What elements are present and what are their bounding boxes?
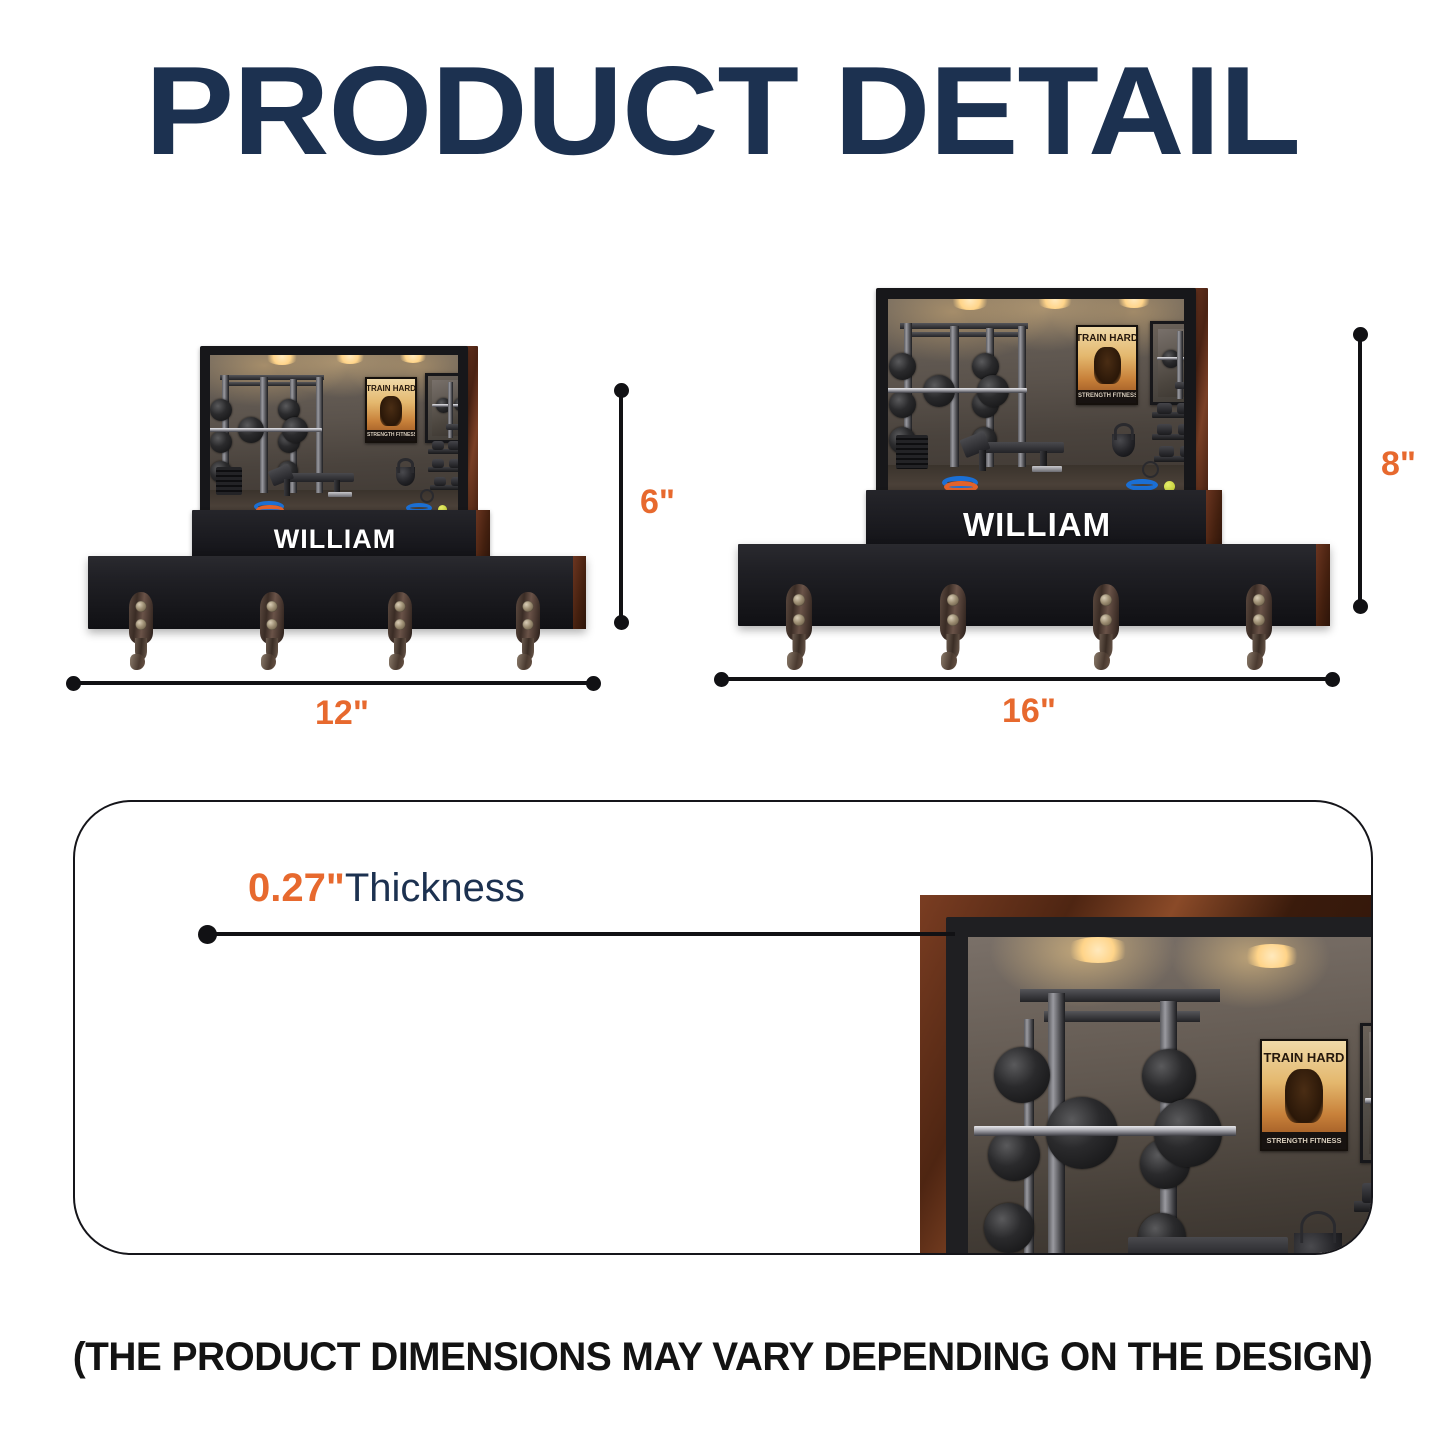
weight-bench bbox=[962, 435, 1064, 473]
poster-title: TRAIN HARD bbox=[1264, 1050, 1345, 1065]
wall-mirror bbox=[1360, 1023, 1373, 1163]
ceiling-light-icon bbox=[334, 355, 366, 364]
dimension-endpoint-dot bbox=[1353, 327, 1368, 342]
height-dimension-line-small bbox=[619, 390, 623, 622]
wall-mirror bbox=[425, 373, 458, 443]
gym-ring bbox=[420, 489, 434, 503]
weight-plate-stack bbox=[216, 467, 242, 495]
gym-ring bbox=[1142, 461, 1159, 478]
leader-line bbox=[215, 932, 955, 936]
poster-title: TRAIN HARD bbox=[1076, 333, 1138, 344]
dimension-endpoint-dot bbox=[1325, 672, 1340, 687]
weight-plate-stack bbox=[896, 435, 928, 469]
wall-mirror bbox=[1150, 321, 1184, 405]
gym-diorama: TRAIN HARD STRENGTH FITNESS bbox=[888, 299, 1184, 513]
width-dimension-label-large: 16" bbox=[1002, 692, 1056, 731]
key-hook bbox=[1093, 584, 1119, 674]
dimension-endpoint-dot bbox=[66, 676, 81, 691]
key-hook bbox=[786, 584, 812, 674]
key-hook bbox=[129, 592, 153, 674]
dimension-endpoint-dot bbox=[198, 925, 217, 944]
shadowbox-small: TRAIN HARD STRENGTH FITNESS bbox=[200, 346, 478, 536]
thickness-callout: 0.27"Thickness bbox=[248, 868, 525, 908]
ceiling-light-icon bbox=[950, 299, 990, 310]
kettlebell bbox=[1112, 434, 1135, 457]
dimension-endpoint-dot bbox=[614, 615, 629, 630]
height-dimension-label-small: 6" bbox=[640, 483, 675, 522]
key-hook bbox=[516, 592, 540, 674]
weight-bench bbox=[1128, 1237, 1288, 1255]
ceiling-light-icon bbox=[1242, 944, 1302, 968]
poster-subtitle: STRENGTH FITNESS bbox=[367, 430, 415, 441]
kettlebell bbox=[396, 467, 415, 486]
name-plinth-small: WILLIAM bbox=[192, 510, 490, 560]
dimension-endpoint-dot bbox=[1353, 599, 1368, 614]
weight-bench bbox=[270, 467, 354, 497]
personalized-name-small: WILLIAM bbox=[192, 524, 490, 555]
thickness-value: 0.27" bbox=[248, 866, 345, 910]
hook-rail-small bbox=[88, 556, 586, 629]
name-plinth-large: WILLIAM bbox=[866, 490, 1222, 550]
key-hook bbox=[1246, 584, 1272, 674]
key-hook bbox=[260, 592, 284, 674]
box-frame: TRAIN HARD STRENGTH FITNESS bbox=[200, 346, 468, 536]
train-hard-poster: TRAIN HARD STRENGTH FITNESS bbox=[1076, 325, 1138, 405]
dimension-endpoint-dot bbox=[714, 672, 729, 687]
poster-subtitle: STRENGTH FITNESS bbox=[1262, 1132, 1346, 1149]
box-frame: TRAIN HARD STRENGTH FITNESS bbox=[946, 917, 1373, 1255]
dimension-endpoint-dot bbox=[586, 676, 601, 691]
train-hard-poster: TRAIN HARD STRENGTH FITNESS bbox=[1260, 1039, 1348, 1151]
width-dimension-line-large bbox=[720, 677, 1333, 681]
page-title: PRODUCT DETAIL bbox=[0, 48, 1445, 174]
wood-side-panel bbox=[573, 556, 586, 629]
key-hook bbox=[940, 584, 966, 674]
disclaimer-text: (THE PRODUCT DIMENSIONS MAY VARY DEPENDI… bbox=[22, 1335, 1424, 1380]
dimension-endpoint-dot bbox=[614, 383, 629, 398]
power-rack bbox=[1010, 989, 1230, 1255]
key-hook bbox=[388, 592, 412, 674]
hook-rail-large bbox=[738, 544, 1330, 626]
gym-diorama: TRAIN HARD STRENGTH FITNESS bbox=[210, 355, 458, 530]
height-dimension-line-large bbox=[1358, 334, 1362, 606]
ceiling-light-icon bbox=[398, 355, 428, 363]
box-frame: TRAIN HARD STRENGTH FITNESS bbox=[876, 288, 1196, 520]
wood-side-panel bbox=[1316, 544, 1330, 626]
ceiling-light-icon bbox=[1036, 299, 1074, 309]
product-large: TRAIN HARD STRENGTH FITNESS bbox=[738, 288, 1358, 668]
dumbbell-rack bbox=[1152, 405, 1184, 463]
gym-diorama-closeup: TRAIN HARD STRENGTH FITNESS bbox=[968, 937, 1373, 1255]
poster-title: TRAIN HARD bbox=[366, 384, 416, 393]
shadowbox-large: TRAIN HARD STRENGTH FITNESS bbox=[876, 288, 1208, 520]
poster-subtitle: STRENGTH FITNESS bbox=[1078, 390, 1136, 403]
dumbbell-rack bbox=[1354, 1183, 1373, 1255]
thickness-closeup-photo: TRAIN HARD STRENGTH FITNESS bbox=[920, 895, 1373, 1255]
width-dimension-label-small: 12" bbox=[315, 694, 369, 733]
personalized-name-large: WILLIAM bbox=[866, 506, 1222, 544]
kettlebell bbox=[1294, 1233, 1342, 1255]
dumbbell-rack bbox=[428, 443, 458, 491]
train-hard-poster: TRAIN HARD STRENGTH FITNESS bbox=[365, 377, 417, 443]
ceiling-light-icon bbox=[265, 355, 299, 365]
product-small: TRAIN HARD STRENGTH FITNESS bbox=[88, 330, 618, 690]
ceiling-light-icon bbox=[1116, 299, 1152, 308]
width-dimension-line-small bbox=[72, 681, 597, 685]
height-dimension-label-large: 8" bbox=[1381, 445, 1416, 484]
thickness-unit-label: Thickness bbox=[345, 866, 525, 910]
ceiling-light-icon bbox=[1065, 937, 1131, 963]
